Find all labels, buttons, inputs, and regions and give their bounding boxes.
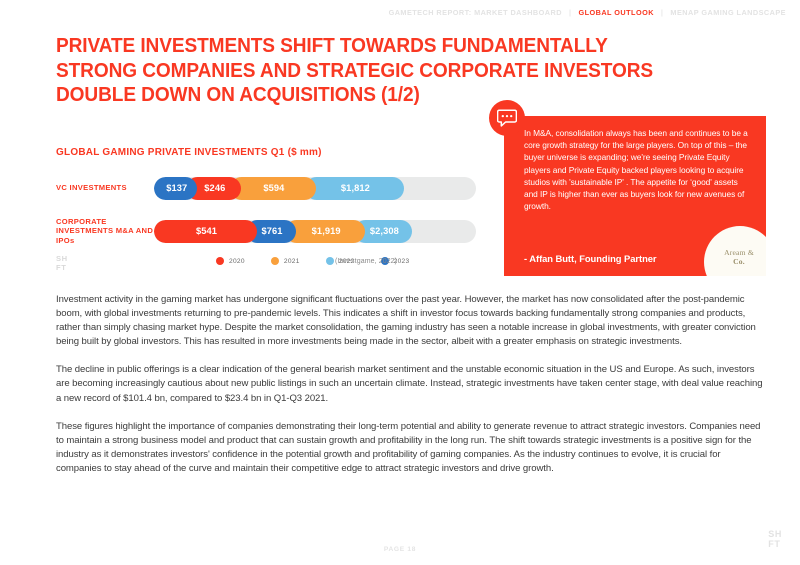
bar-segment-2023: $137: [154, 177, 197, 200]
body-paragraph-2: The decline in public offerings is a cle…: [56, 363, 766, 405]
bar-category-label: VC INVESTMENTS: [56, 183, 154, 193]
breadcrumb-separator: |: [569, 8, 572, 17]
chart-bar-row: VC INVESTMENTS$137$246$594$1,812: [56, 175, 476, 201]
legend-swatch-icon: [271, 257, 279, 265]
breadcrumb: GAMETECH REPORT: MARKET DASHBOARD|GLOBAL…: [389, 8, 786, 17]
page-title: PRIVATE INVESTMENTS SHIFT TOWARDS FUNDAM…: [56, 34, 670, 108]
chart-source: (Investgame, 2022): [335, 258, 397, 265]
bar-segment-value: $594: [261, 183, 284, 193]
breadcrumb-item-3[interactable]: MENAP GAMING LANDSCAPE: [670, 8, 786, 17]
breadcrumb-item-1[interactable]: GAMETECH REPORT: MARKET DASHBOARD: [389, 8, 562, 17]
body-paragraph-1: Investment activity in the gaming market…: [56, 293, 766, 349]
bar-segment-value: $137: [164, 183, 187, 193]
shft-footer-part1: SH: [768, 530, 782, 539]
bar-segment-2020: $541: [154, 220, 257, 243]
shft-footer-part2: FT: [768, 540, 782, 549]
slide-page: GAMETECH REPORT: MARKET DASHBOARD|GLOBAL…: [0, 0, 800, 565]
investments-chart: GLOBAL GAMING PRIVATE INVESTMENTS Q1 ($ …: [56, 146, 476, 265]
chart-title: GLOBAL GAMING PRIVATE INVESTMENTS Q1 ($ …: [56, 146, 455, 158]
shft-logo-footer: SH FT: [768, 530, 784, 549]
chart-bars: VC INVESTMENTS$137$246$594$1,812CORPORAT…: [56, 175, 476, 244]
legend-label: 2021: [284, 258, 300, 265]
bar-category-label: CORPORATE INVESTMENTS M&A AND IPOs: [56, 217, 154, 246]
bar-segment-2022: $1,812: [305, 177, 405, 200]
bar-track: $137$246$594$1,812: [154, 177, 476, 200]
breadcrumb-item-2[interactable]: GLOBAL OUTLOOK: [578, 8, 653, 17]
shft-logo-chart: SH FT: [56, 255, 70, 271]
bar-segment-value: $1,812: [339, 183, 370, 193]
bar-segment-value: $246: [202, 183, 225, 193]
chart-bar-row: CORPORATE INVESTMENTS M&A AND IPOs$541$7…: [56, 218, 476, 244]
quote-card: In M&A, consolidation always has been an…: [504, 116, 766, 276]
bar-segment-2021: $594: [230, 177, 315, 200]
aream-logo-line1: Aream &: [724, 248, 754, 257]
bar-track: $541$761$1,919$2,308: [154, 220, 476, 243]
legend-item-2020[interactable]: 2020: [216, 257, 245, 265]
body-paragraph-3: These figures highlight the importance o…: [56, 420, 766, 476]
legend-item-2021[interactable]: 2021: [271, 257, 300, 265]
bar-segment-value: $1,919: [310, 226, 341, 236]
body-copy: Investment activity in the gaming market…: [56, 293, 766, 476]
aream-logo-line2: Co.: [724, 257, 754, 266]
bar-segment-2021: $1,919: [285, 220, 366, 243]
quote-author: - Affan Butt, Founding Partner: [524, 253, 657, 264]
shft-logo-part2: FT: [56, 264, 68, 272]
legend-label: 2020: [229, 258, 245, 265]
bar-segment-value: $541: [194, 226, 217, 236]
footer-page-number: PAGE 18: [0, 546, 800, 553]
legend-swatch-icon: [326, 257, 334, 265]
bar-segment-value: $761: [259, 226, 282, 236]
speech-bubble-icon: [489, 100, 525, 136]
legend-swatch-icon: [216, 257, 224, 265]
aream-co-logo: Aream & Co.: [704, 226, 766, 276]
breadcrumb-separator: |: [661, 8, 664, 17]
quote-text: In M&A, consolidation always has been an…: [524, 127, 752, 212]
bar-segment-value: $2,308: [368, 226, 399, 236]
shft-logo-part1: SH: [56, 255, 68, 263]
